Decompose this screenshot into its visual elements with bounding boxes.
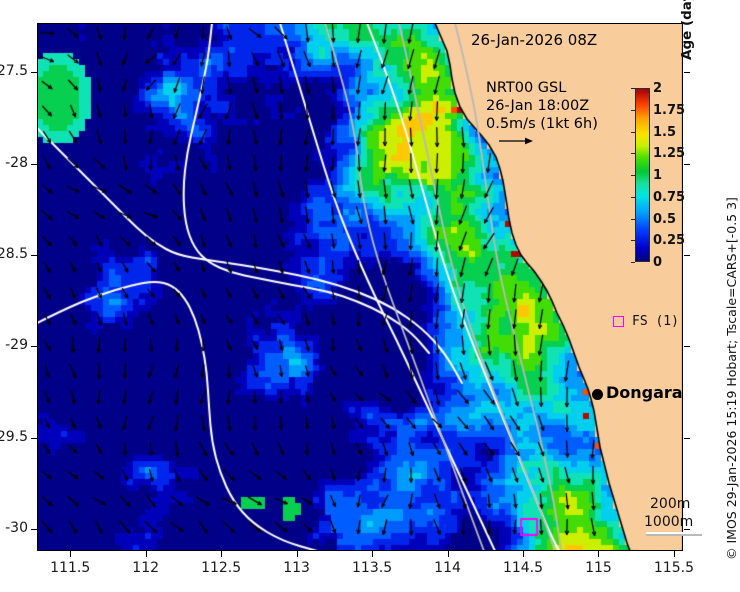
model-name-label: NRT00 GSL	[486, 80, 566, 96]
colorbar-tick-label: 2	[653, 82, 662, 95]
bathymetry-200m-label: 200m	[650, 496, 690, 512]
colorbar-tick-label: 0.25	[653, 234, 685, 247]
y-axis-tick	[31, 72, 37, 73]
right-axis-tick	[684, 529, 690, 530]
city-dot-icon	[592, 389, 603, 400]
right-axis-tick	[684, 346, 690, 347]
y-axis-tick-label: -28.5	[0, 246, 28, 262]
x-axis-tick	[146, 551, 147, 557]
colorbar-tick-label: 1.25	[653, 147, 685, 160]
y-axis-tick-label: -29	[0, 337, 28, 353]
colorbar-title: Age (days) of filled SST (wrt latest)	[679, 0, 695, 60]
colorbar-tick	[631, 240, 635, 241]
colorbar-tick	[631, 219, 635, 220]
x-axis-tick	[448, 551, 449, 557]
right-axis-tick	[684, 255, 690, 256]
y-axis-tick-label: -28	[0, 155, 28, 171]
colorbar-tick	[631, 88, 635, 89]
colorbar-tick	[631, 132, 635, 133]
colorbar-tick-label: 0	[653, 256, 662, 269]
x-axis-tick	[221, 551, 222, 557]
colorbar	[635, 88, 650, 262]
colorbar-tick-label: 0.75	[653, 191, 685, 204]
y-axis-tick	[31, 346, 37, 347]
x-axis-tick-label: 111.5	[30, 560, 110, 576]
colorbar-tick	[631, 175, 635, 176]
colorbar-tick-label: 1	[653, 169, 662, 182]
bathymetry-1000m-rule	[646, 534, 702, 536]
y-axis-tick-label: -29.5	[0, 429, 28, 445]
colorbar-tick	[631, 153, 635, 154]
timestamp-label: 26-Jan-2026 08Z	[471, 31, 597, 49]
colorbar-tick	[631, 197, 635, 198]
right-axis-tick	[684, 164, 690, 165]
x-axis-tick	[598, 551, 599, 557]
x-axis-tick	[372, 551, 373, 557]
x-axis-tick	[70, 551, 71, 557]
x-axis-tick-label: 112.5	[181, 560, 261, 576]
y-axis-tick	[31, 255, 37, 256]
x-axis-tick-label: 115.5	[634, 560, 714, 576]
x-axis-tick-label: 112	[106, 560, 186, 576]
colorbar-tick-label: 1.75	[653, 104, 685, 117]
right-axis-tick	[684, 72, 690, 73]
colorbar-tick	[631, 262, 635, 263]
vector-legend-arrow-icon	[499, 136, 533, 146]
y-axis-tick	[31, 529, 37, 530]
station-marker-icon	[613, 316, 624, 327]
colorbar-tick-label: 0.5	[653, 213, 676, 226]
x-axis-tick	[297, 551, 298, 557]
credit-label: © IMOS 29-Jan-2026 15:19 Hobart; Tscale=…	[724, 197, 739, 560]
colorbar-tick-label: 1.5	[653, 126, 676, 139]
x-axis-tick-label: 114	[408, 560, 488, 576]
station-label: FS (1)	[632, 314, 679, 329]
y-axis-tick	[31, 164, 37, 165]
x-axis-tick-label: 114.5	[483, 560, 563, 576]
x-axis-tick	[674, 551, 675, 557]
vector-scale-label: 0.5m/s (1kt 6h)	[486, 116, 598, 132]
x-axis-tick-label: 115	[558, 560, 638, 576]
colorbar-tick	[631, 110, 635, 111]
y-axis-tick	[31, 438, 37, 439]
city-label: Dongara	[606, 383, 683, 402]
x-axis-tick-label: 113	[257, 560, 337, 576]
y-axis-tick-label: -30	[0, 520, 28, 536]
bathymetry-1000m-label: 1000m	[644, 514, 693, 530]
x-axis-tick	[523, 551, 524, 557]
y-axis-tick-label: -27.5	[0, 63, 28, 79]
model-time-label: 26-Jan 18:00Z	[486, 98, 589, 114]
right-axis-tick	[684, 438, 690, 439]
x-axis-tick-label: 113.5	[332, 560, 412, 576]
